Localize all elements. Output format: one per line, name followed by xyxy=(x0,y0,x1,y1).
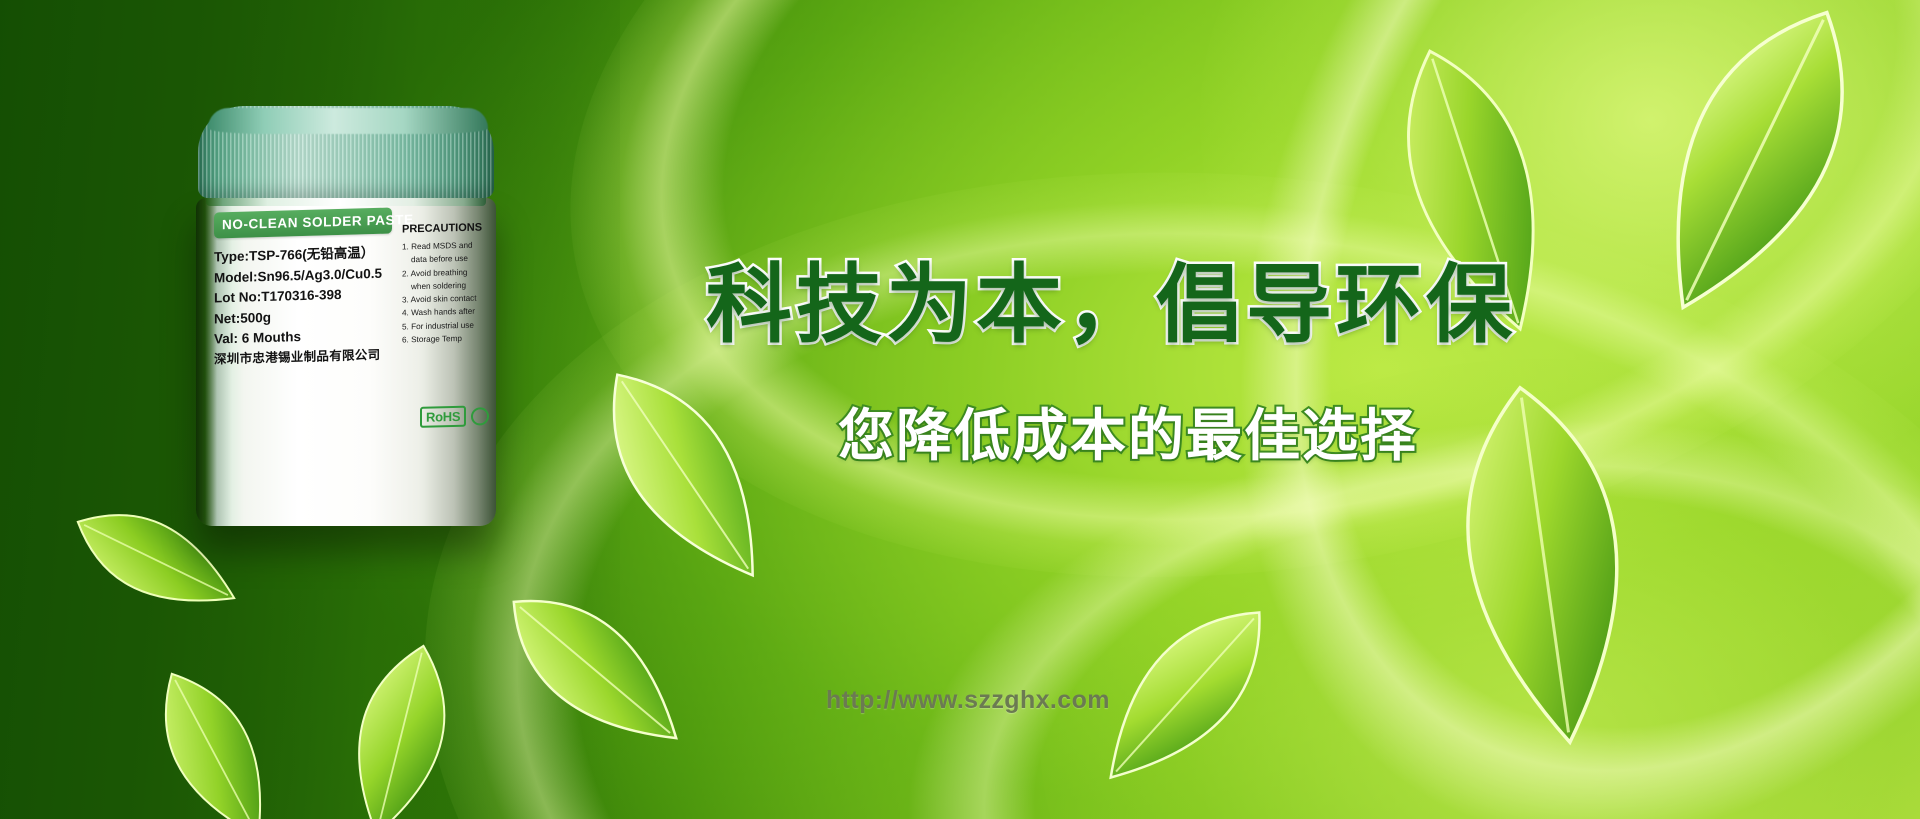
jar-lid-top xyxy=(208,108,488,134)
banner-headline: 科技为本，倡导环保 xyxy=(706,262,1516,348)
banner-subheadline: 您降低成本的最佳选择 xyxy=(838,408,1418,464)
website-url: http://www.szzghx.com xyxy=(826,686,1110,715)
rohs-label: RoHS xyxy=(420,406,466,428)
product-label: NO-CLEAN SOLDER PASTE Type:TSP-766(无铅高温）… xyxy=(214,210,392,367)
precautions-block: PRECAUTIONS 1. Read MSDS and data before… xyxy=(402,221,522,424)
label-band-title: NO-CLEAN SOLDER PASTE xyxy=(214,208,392,239)
solder-paste-jar: NO-CLEAN SOLDER PASTE Type:TSP-766(无铅高温）… xyxy=(196,106,496,526)
rohs-circle-icon xyxy=(471,407,489,425)
jar-lid xyxy=(198,106,494,198)
eco-product-banner: NO-CLEAN SOLDER PASTE Type:TSP-766(无铅高温）… xyxy=(0,0,1920,819)
rohs-badge: RoHS xyxy=(420,405,489,428)
precautions-item: 6. Storage Temp xyxy=(402,331,522,347)
precautions-title: PRECAUTIONS xyxy=(402,221,522,236)
